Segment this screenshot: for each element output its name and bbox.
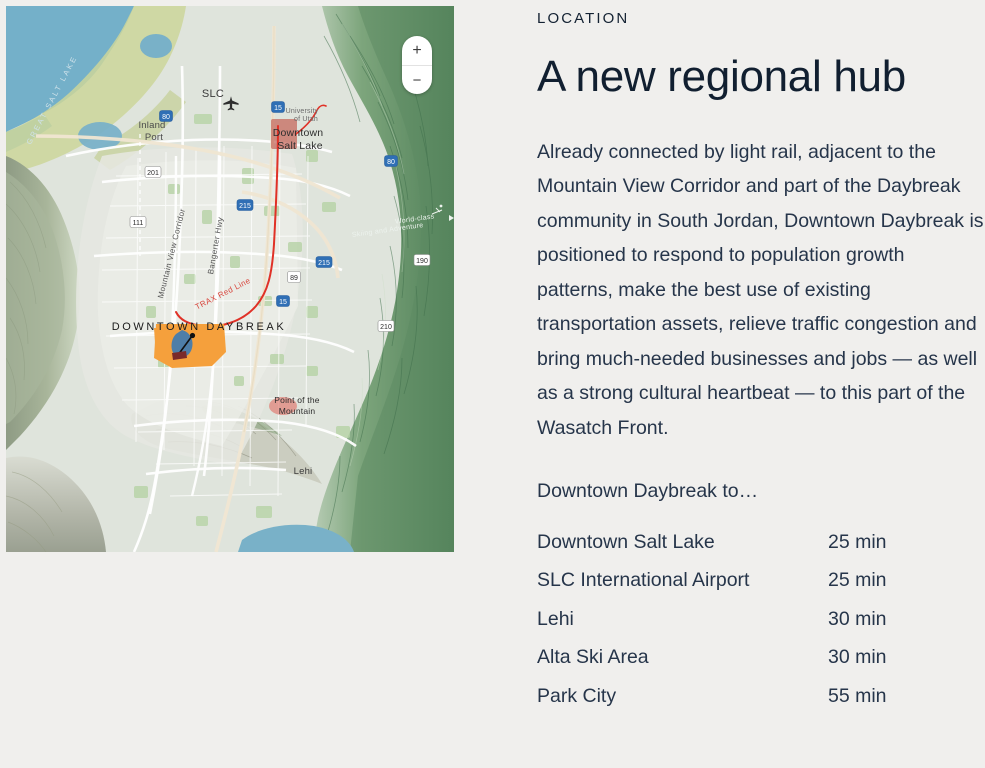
map-shield-label: 210	[380, 324, 392, 331]
map-label-inland-port-1: Inland	[138, 120, 165, 131]
map-canvas[interactable]: 8015802012152158915190210111 GREAT SALT …	[6, 6, 454, 552]
travel-time-row: Lehi30 min	[537, 608, 985, 647]
map-label-downtown-salt-lake-1: Downtown	[273, 127, 324, 139]
section-eyebrow: LOCATION	[537, 10, 985, 27]
travel-time-duration: 25 min	[828, 531, 887, 554]
travel-time-row: Park City55 min	[537, 685, 985, 724]
map-shield-label: 80	[387, 159, 395, 166]
map-label-university-of-utah-2: of Utah	[294, 116, 318, 123]
travel-times-list: Downtown Salt Lake25 minSLC Internationa…	[537, 531, 985, 724]
map-shield-label: 111	[133, 220, 144, 227]
travel-time-duration: 55 min	[828, 685, 887, 708]
map-label-downtown-salt-lake-2: Salt Lake	[277, 140, 323, 152]
travel-time-destination: Alta Ski Area	[537, 646, 828, 669]
travel-time-destination: SLC International Airport	[537, 569, 828, 592]
travel-time-row: Downtown Salt Lake25 min	[537, 531, 985, 570]
map-label-lehi: Lehi	[294, 466, 313, 477]
map-shield-label: 215	[318, 260, 330, 267]
map-label-university-of-utah-1: University	[286, 108, 319, 115]
map-shield-i-215-east: 215	[316, 257, 332, 268]
map-shield-us-89: 89	[288, 272, 301, 283]
map-shield-i-80-east: 80	[385, 156, 398, 167]
map-shield-route-190: 190	[414, 255, 430, 266]
map-shield-label: 201	[147, 170, 159, 177]
location-section: 8015802012152158915190210111 GREAT SALT …	[0, 0, 985, 768]
travel-times-lead-in: Downtown Daybreak to…	[537, 474, 985, 509]
page-title: A new regional hub	[537, 54, 985, 101]
map-label-slc-airport: SLC	[202, 88, 224, 100]
map-shield-label: 15	[274, 105, 282, 112]
map-label-downtown-daybreak: DOWNTOWN DAYBREAK	[112, 321, 287, 333]
travel-time-row: Alta Ski Area30 min	[537, 646, 985, 685]
map-label-point-of-the-mountain-2: Mountain	[279, 406, 316, 416]
travel-time-destination: Lehi	[537, 608, 828, 631]
map-panel[interactable]: 8015802012152158915190210111 GREAT SALT …	[6, 6, 454, 552]
travel-time-duration: 25 min	[828, 569, 887, 592]
zoom-in-button[interactable]: +	[402, 36, 432, 65]
description-paragraph: Already connected by light rail, adjacen…	[537, 135, 985, 446]
map-shield-route-111: 111	[130, 217, 146, 228]
map-shield-label: 190	[416, 258, 428, 265]
map-zoom-controls[interactable]: + −	[402, 36, 432, 94]
map-label-point-of-the-mountain-1: Point of the	[274, 395, 319, 405]
travel-time-duration: 30 min	[828, 646, 887, 669]
map-label-inland-port-2: Port	[145, 132, 163, 143]
travel-time-destination: Park City	[537, 685, 828, 708]
map-shield-route-210: 210	[378, 321, 394, 332]
zoom-out-button[interactable]: −	[402, 65, 432, 94]
map-shield-i-215-west: 215	[237, 200, 253, 211]
map-shield-i-15-north: 15	[272, 102, 285, 113]
travel-time-duration: 30 min	[828, 608, 887, 631]
map-shield-label: 89	[290, 275, 298, 282]
travel-time-row: SLC International Airport25 min	[537, 569, 985, 608]
map-shield-i-15-mid: 15	[277, 296, 290, 307]
travel-time-destination: Downtown Salt Lake	[537, 531, 828, 554]
map-shield-route-201: 201	[145, 167, 161, 178]
map-shield-label: 215	[239, 203, 251, 210]
map-shield-label: 15	[279, 299, 287, 306]
location-content: LOCATION A new regional hub Already conn…	[537, 0, 985, 768]
